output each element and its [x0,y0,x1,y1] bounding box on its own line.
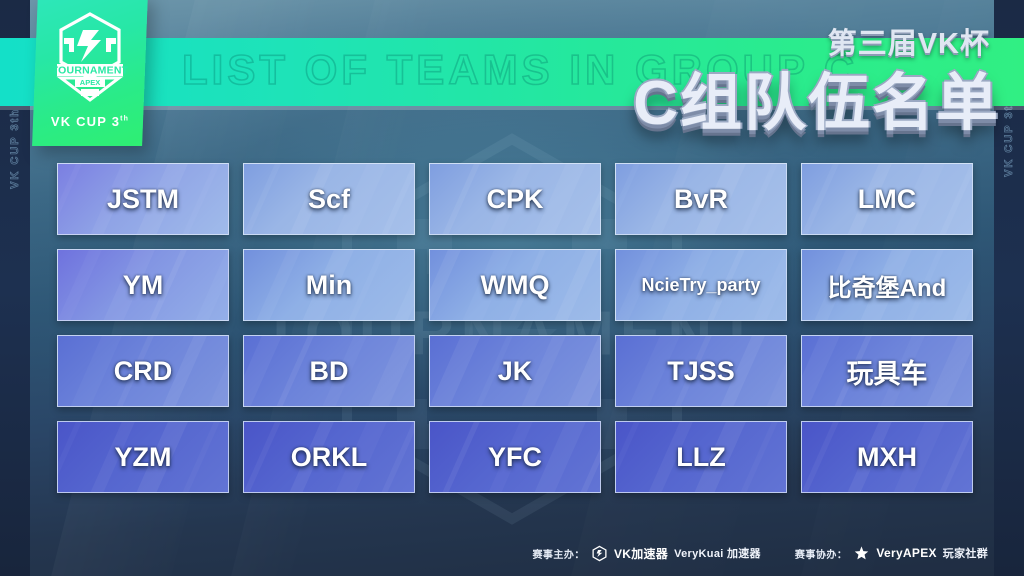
team-card[interactable]: CPK [429,163,601,235]
team-name: YFC [482,442,548,473]
sponsor-subtitle: VeryKuai 加速器 [674,545,761,561]
team-card[interactable]: MXH [801,421,973,493]
team-name: LLZ [670,442,731,473]
team-card[interactable]: Scf [243,163,415,235]
team-name: CRD [108,356,179,387]
team-name: YZM [109,442,178,473]
team-name: WMQ [475,270,556,301]
team-card[interactable]: BD [243,335,415,407]
team-card[interactable]: JK [429,335,601,407]
team-card[interactable]: JSTM [57,163,229,235]
team-card[interactable]: TJSS [615,335,787,407]
sponsor-role-label: 赛事主办： [532,546,585,561]
sponsor-subtitle: 玩家社群 [943,545,988,561]
team-name: BvR [668,184,734,215]
team-name: JK [492,356,539,387]
team-name: NcieTry_party [635,275,766,296]
team-name: LMC [852,184,922,215]
team-name: Min [300,270,359,301]
sponsor-block: 赛事主办：VK加速器VeryKuai 加速器 [532,545,760,562]
team-card[interactable]: Min [243,249,415,321]
sponsor-block: 赛事协办：VeryAPEX玩家社群 [795,545,988,562]
page-title: C组队伍名单 [633,52,1000,142]
team-card[interactable]: YZM [57,421,229,493]
svg-text:TOURNAMENT: TOURNAMENT [52,65,129,77]
team-card[interactable]: YM [57,249,229,321]
team-card[interactable]: NcieTry_party [615,249,787,321]
team-card[interactable]: LLZ [615,421,787,493]
team-name: 玩具车 [841,352,934,391]
logo-cup-text: VK CUP 3th [35,114,145,129]
slide-canvas: TOURNAMENT VK CUP 3th VK CUP 3th LIST OF… [0,0,1024,576]
left-rail-text: VK CUP 3th [9,108,21,189]
sponsor-name: VeryAPEX [876,546,936,560]
vk-hex-icon [591,545,608,562]
team-name: CPK [480,184,549,215]
sponsor-footer: 赛事主办：VK加速器VeryKuai 加速器赛事协办：VeryAPEX玩家社群 [0,530,1024,576]
logo-cup-suffix: th [120,116,129,123]
team-name: 比奇堡And [822,268,953,303]
team-name: TJSS [661,356,741,387]
svg-text:APEX: APEX [80,78,100,87]
team-card[interactable]: BvR [615,163,787,235]
team-name: Scf [302,184,356,215]
team-card[interactable]: YFC [429,421,601,493]
team-card[interactable]: CRD [57,335,229,407]
tournament-emblem-icon: TOURNAMENT APEX [47,8,133,109]
veryapex-star-icon [853,545,870,562]
event-logo-panel: TOURNAMENT APEX VK CUP 3th [32,0,148,146]
team-name: YM [117,270,170,301]
team-card[interactable]: LMC [801,163,973,235]
team-card[interactable]: 比奇堡And [801,249,973,321]
team-name: ORKL [285,442,374,473]
team-name: BD [304,356,355,387]
sponsor-role-label: 赛事协办： [795,546,848,561]
sponsor-name: VK加速器 [614,545,668,562]
team-card[interactable]: WMQ [429,249,601,321]
team-grid: JSTMScfCPKBvRLMCYMMinWMQNcieTry_party比奇堡… [57,163,973,493]
team-name: JSTM [101,184,185,215]
logo-cup-label: VK CUP 3 [51,114,120,129]
team-name: MXH [851,442,923,473]
team-card[interactable]: ORKL [243,421,415,493]
team-card[interactable]: 玩具车 [801,335,973,407]
